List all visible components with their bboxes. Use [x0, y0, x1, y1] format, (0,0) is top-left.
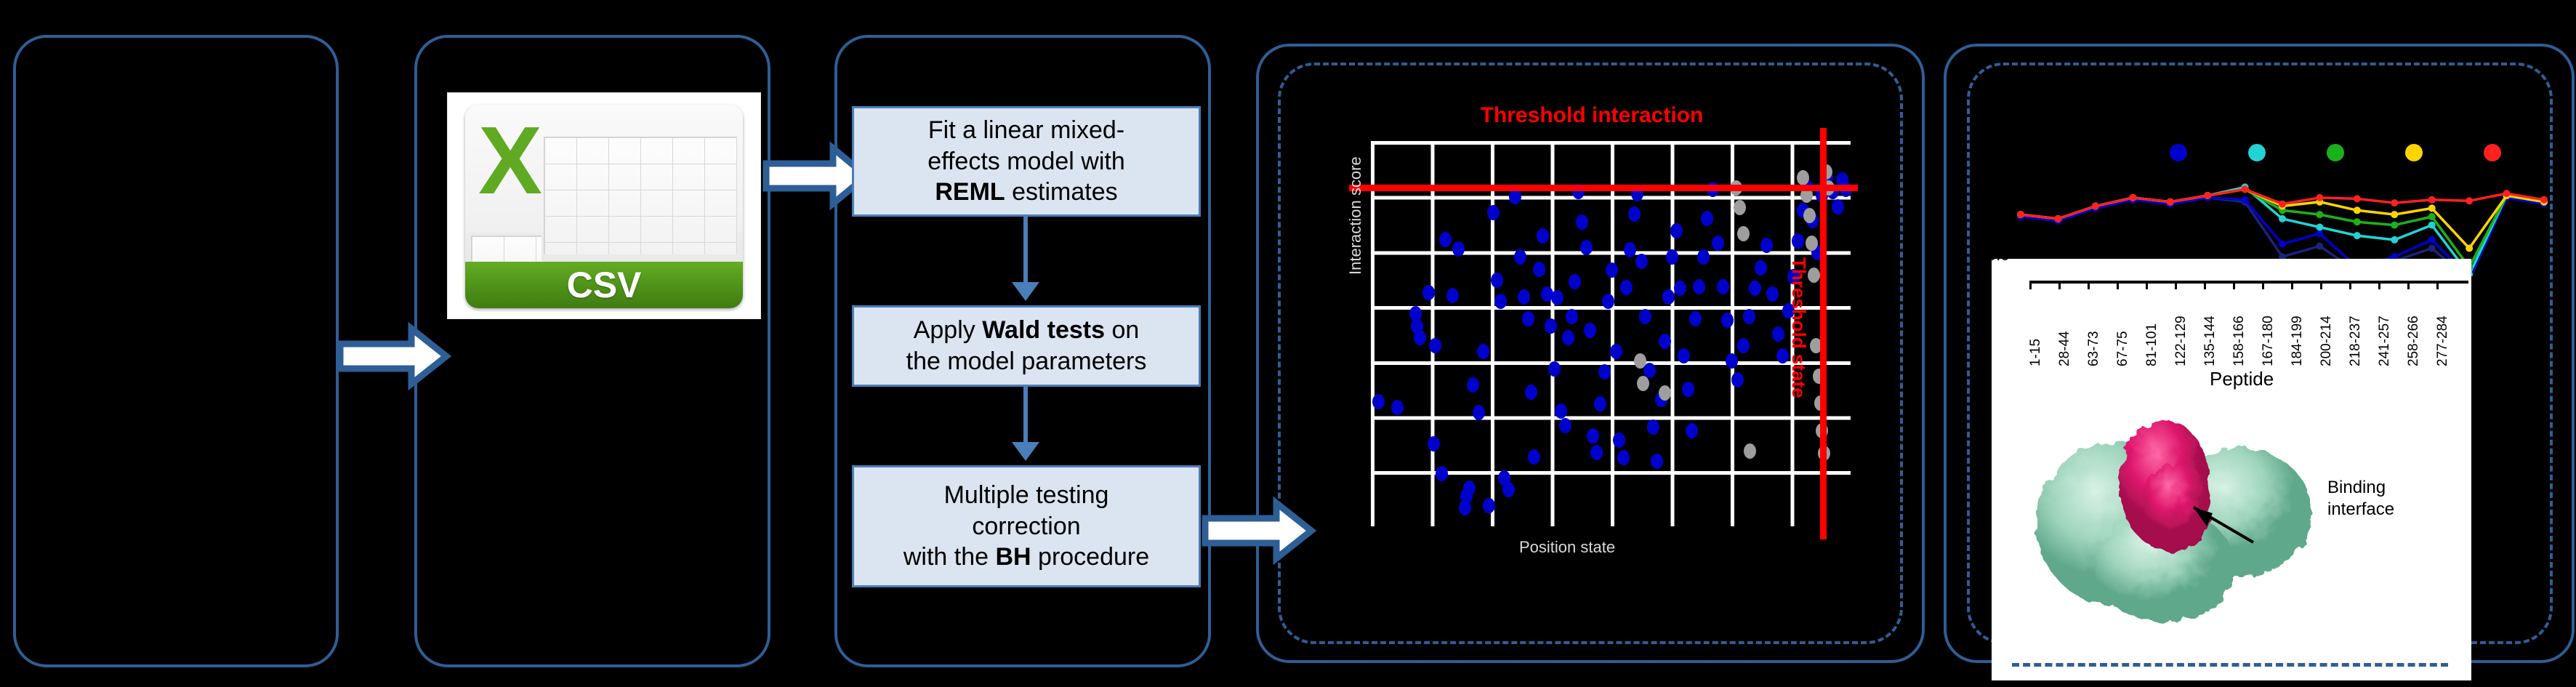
- scatter-point: [1662, 289, 1675, 305]
- peptide-axis-tick: [2320, 281, 2322, 289]
- scatter-point: [1477, 344, 1489, 359]
- threshold-scatter-figure: Threshold interaction Threshold state Po…: [1301, 93, 1883, 631]
- csv-file-icon[interactable]: X CSV: [448, 93, 760, 318]
- scatter-point: [1686, 423, 1698, 438]
- scatter-point: [1674, 281, 1686, 296]
- scatter-point: [1463, 481, 1476, 496]
- scatter-point: [1628, 206, 1641, 222]
- scatter-point: [1372, 394, 1385, 409]
- excel-x-glyph: X: [468, 118, 550, 204]
- scatter-point: [1602, 294, 1614, 309]
- peptide-x-axis-label: Peptide: [2210, 368, 2274, 390]
- step-reml-line3-rest: estimates: [1005, 178, 1118, 206]
- peptide-uptake-legend: [1992, 131, 2566, 276]
- step-bh-line2: correction: [972, 513, 1080, 540]
- scatter-point: [1639, 309, 1651, 324]
- scatter-plot-area: Threshold state: [1371, 141, 1851, 526]
- scatter-point: [1562, 330, 1574, 345]
- connector-wald-to-bh: [1023, 387, 1028, 443]
- scatter-points: [1371, 141, 1851, 526]
- step-bh-keyword: BH: [995, 543, 1031, 571]
- scatter-point: [1569, 274, 1581, 289]
- scatter-point: [1590, 445, 1603, 460]
- scatter-point: [1743, 309, 1755, 324]
- scatter-point: [1792, 233, 1804, 249]
- arrow-to-csv: [336, 320, 452, 393]
- scatter-y-axis-label: Interaction score: [1346, 156, 1365, 275]
- scatter-point: [1428, 436, 1440, 451]
- legend-dot: [2484, 144, 2501, 161]
- step-wald-keyword: Wald tests: [982, 316, 1105, 344]
- scatter-point: [1712, 236, 1724, 251]
- threshold-state-label: Threshold state: [1787, 257, 1810, 398]
- scatter-point: [1414, 330, 1426, 345]
- peptide-axis-tick: [2436, 281, 2439, 289]
- connector-reml-to-wald: [1023, 217, 1028, 284]
- diagram-canvas: X CSV Fit a linear mixed- effects model …: [0, 0, 2576, 687]
- scatter-point: [1518, 289, 1530, 305]
- scatter-point: [1737, 338, 1750, 353]
- legend-dot: [2327, 144, 2344, 161]
- scatter-point: [1566, 309, 1578, 324]
- scatter-point: [1734, 200, 1746, 215]
- scatter-point: [1678, 348, 1690, 363]
- peptide-structure-card: 0.0 1-1528-4463-7367-7581-101122-129135-…: [1992, 259, 2471, 680]
- peptide-tick-label: 258-266: [2406, 316, 2422, 366]
- scatter-point: [1620, 280, 1633, 295]
- scatter-point: [1545, 318, 1557, 334]
- scatter-point: [1803, 208, 1816, 223]
- step-reml-line1: Fit a linear mixed-: [928, 116, 1124, 144]
- scatter-point: [1666, 249, 1678, 265]
- scatter-point: [1598, 364, 1611, 379]
- scatter-point: [1555, 403, 1567, 419]
- step-wald-line1-post: on: [1105, 316, 1139, 344]
- step-wald-box[interactable]: Apply Wald tests on the model parameters: [852, 305, 1201, 387]
- peptide-tick-label: 241-257: [2377, 316, 2393, 366]
- peptide-uptake-lines: [1992, 131, 2566, 276]
- peptide-x-axis-line: [2029, 281, 2468, 284]
- scatter-point: [1659, 385, 1671, 401]
- scatter-point: [1584, 323, 1596, 338]
- scatter-point: [1760, 238, 1773, 253]
- peptide-tick-label: 28-44: [2057, 331, 2073, 366]
- arrow-stats-to-threshold: [1201, 494, 1317, 567]
- step-reml-line2: effects model with: [927, 148, 1125, 175]
- peptide-axis-tick: [2088, 281, 2090, 289]
- peptide-axis-tick: [2058, 281, 2061, 289]
- peptide-axis-tick: [2175, 281, 2177, 289]
- scatter-point: [1737, 226, 1750, 241]
- step-reml-keyword: REML: [935, 178, 1005, 206]
- peptide-tick-label: 200-214: [2319, 316, 2335, 366]
- step-reml-box[interactable]: Fit a linear mixed- effects model with R…: [852, 106, 1201, 217]
- scatter-point: [1559, 418, 1571, 433]
- protein-surface-render: [2022, 397, 2327, 637]
- step-wald-line2: the model parameters: [906, 347, 1147, 375]
- scatter-point: [1439, 232, 1452, 247]
- legend-dot: [2405, 144, 2423, 161]
- scatter-point: [1721, 313, 1734, 328]
- scatter-point: [1422, 285, 1435, 300]
- peptide-tick-label: 63-73: [2086, 331, 2102, 366]
- peptide-tick-label: 135-144: [2202, 316, 2218, 366]
- csv-icon-tile: X CSV: [465, 105, 743, 308]
- peptide-axis-tick: [2029, 281, 2032, 289]
- legend-dot: [2170, 144, 2187, 161]
- peptide-tick-label: 277-284: [2435, 316, 2451, 366]
- scatter-point: [1637, 376, 1649, 391]
- peptide-axis-tick: [2204, 281, 2206, 289]
- connector-reml-to-wald-arrowhead: [1012, 282, 1039, 301]
- scatter-point: [1533, 262, 1545, 277]
- scatter-point: [1659, 334, 1671, 349]
- scatter-point: [1487, 205, 1500, 220]
- scatter-point: [1594, 396, 1606, 411]
- threshold-state-line: [1820, 128, 1827, 539]
- step-bh-line3-post: procedure: [1031, 543, 1150, 571]
- scatter-point: [1610, 344, 1622, 359]
- scatter-point: [1697, 249, 1710, 265]
- scatter-point: [1502, 482, 1515, 497]
- scatter-point: [1494, 294, 1507, 309]
- scatter-point: [1580, 240, 1593, 255]
- peptide-axis-tick: [2407, 281, 2410, 289]
- csv-spreadsheet-grid: [544, 137, 737, 254]
- structure-card-dashed-divider: [2012, 663, 2448, 667]
- input-panel: [13, 35, 339, 667]
- scatter-point: [1766, 286, 1779, 302]
- scatter-point: [1587, 428, 1599, 443]
- scatter-x-axis-label: Position state: [1519, 538, 1615, 557]
- scatter-point: [1693, 279, 1705, 294]
- peptide-axis-tick: [2233, 281, 2235, 289]
- scatter-point: [1701, 211, 1713, 226]
- threshold-interaction-label: Threshold interaction: [1301, 103, 1883, 128]
- scatter-point: [1772, 326, 1784, 342]
- scatter-point: [1832, 199, 1844, 214]
- scatter-point: [1635, 254, 1648, 269]
- connector-wald-to-bh-arrowhead: [1012, 442, 1039, 461]
- scatter-point: [1467, 377, 1479, 393]
- peptide-tick-label: 184-199: [2290, 316, 2306, 366]
- scatter-point: [1744, 443, 1756, 459]
- step-wald-line1-pre: Apply: [914, 316, 983, 344]
- scatter-point: [1522, 311, 1534, 326]
- binding-interface-line2: interface: [2327, 499, 2394, 521]
- scatter-point: [1509, 189, 1521, 204]
- step-bh-line1: Multiple testing: [944, 481, 1109, 509]
- peptide-tick-label: 218-237: [2348, 316, 2364, 366]
- scatter-point: [1446, 288, 1459, 303]
- scatter-point: [1483, 498, 1495, 513]
- peptide-tick-label: 122-129: [2173, 316, 2189, 366]
- scatter-point: [1528, 449, 1540, 465]
- peptide-tick-label: 67-75: [2115, 331, 2131, 366]
- peptide-axis-ticklabels: 1-1528-4463-7367-7581-101122-129135-1441…: [2012, 275, 2448, 369]
- binding-interface-annotation: Binding interface: [2327, 477, 2394, 521]
- peptide-axis-tick: [2262, 281, 2264, 289]
- scatter-point: [1473, 405, 1485, 420]
- scatter-point: [1634, 353, 1646, 369]
- scatter-point: [1514, 249, 1526, 265]
- scatter-point: [1436, 466, 1448, 481]
- threshold-interaction-line: [1349, 185, 1858, 191]
- scatter-point: [1452, 241, 1465, 257]
- scatter-point: [1717, 279, 1729, 294]
- binding-interface-line1: Binding: [2327, 477, 2394, 499]
- step-bh-line3-pre: with the: [903, 543, 996, 571]
- scatter-point: [1613, 433, 1625, 448]
- legend-dot: [2248, 144, 2266, 161]
- scatter-point: [1391, 400, 1404, 415]
- scatter-point: [1617, 450, 1630, 465]
- csv-label: CSV: [465, 262, 743, 308]
- scatter-point: [1670, 223, 1683, 238]
- scatter-point: [1429, 338, 1441, 353]
- peptide-axis-tick: [2146, 281, 2148, 289]
- peptide-tick-label: 167-180: [2261, 316, 2277, 366]
- peptide-axis-tick: [2291, 281, 2293, 289]
- scatter-point: [1606, 262, 1618, 278]
- scatter-point: [1726, 353, 1738, 369]
- peptide-tick-label: 158-166: [2231, 316, 2247, 366]
- scatter-point: [1537, 228, 1549, 244]
- step-bh-box[interactable]: Multiple testing correction with the BH …: [852, 465, 1201, 587]
- scatter-point: [1689, 311, 1702, 326]
- peptide-y-axis-value: 0.0: [1987, 246, 2010, 265]
- scatter-point: [1491, 273, 1503, 288]
- scatter-point: [1525, 385, 1537, 400]
- scatter-point: [1548, 361, 1561, 377]
- scatter-point: [1551, 290, 1563, 305]
- scatter-point: [1755, 260, 1767, 276]
- peptide-axis-tick: [2349, 281, 2351, 289]
- scatter-point: [1624, 242, 1636, 257]
- peptide-axis-tick: [2378, 281, 2380, 289]
- scatter-point: [1731, 372, 1744, 387]
- scatter-point: [1647, 419, 1659, 435]
- scatter-point: [1749, 281, 1761, 296]
- scatter-point: [1576, 214, 1588, 230]
- peptide-tick-label: 1-15: [2028, 339, 2044, 366]
- peptide-tick-label: 81-101: [2144, 324, 2160, 366]
- peptide-axis-tick: [2117, 281, 2119, 289]
- scatter-point: [1682, 382, 1694, 397]
- scatter-point: [1651, 454, 1663, 469]
